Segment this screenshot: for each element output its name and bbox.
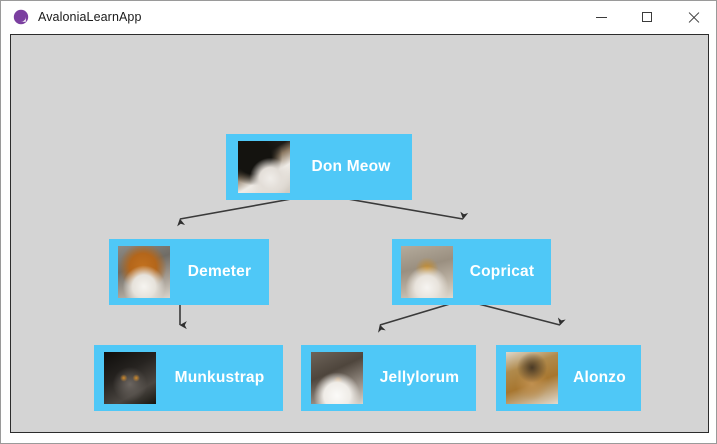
cat-photo-don-meow <box>238 141 290 193</box>
cat-photo-alonzo <box>506 352 558 404</box>
title-bar: AvaloniaLearnApp <box>1 1 716 33</box>
tree-node-label: Alonzo <box>558 369 641 387</box>
tree-node-label: Demeter <box>170 263 269 281</box>
cat-photo-munkustrap <box>104 352 156 404</box>
tree-node-demeter[interactable]: Demeter <box>109 239 269 305</box>
close-icon <box>688 12 699 23</box>
maximize-button[interactable] <box>624 1 670 33</box>
minimize-icon <box>596 17 607 18</box>
tree-node-don-meow[interactable]: Don Meow <box>226 134 412 200</box>
cat-photo-demeter <box>118 246 170 298</box>
tree-node-label: Munkustrap <box>156 369 283 387</box>
title-bar-left: AvaloniaLearnApp <box>1 9 142 25</box>
tree-diagram-canvas: Don Meow Demeter Copricat Munkustrap Jel… <box>11 35 708 432</box>
maximize-icon <box>642 12 652 22</box>
window-title: AvaloniaLearnApp <box>38 10 142 24</box>
tree-node-copricat[interactable]: Copricat <box>392 239 551 305</box>
app-window: AvaloniaLearnApp <box>0 0 717 444</box>
tree-node-munkustrap[interactable]: Munkustrap <box>94 345 283 411</box>
tree-node-alonzo[interactable]: Alonzo <box>496 345 641 411</box>
avalonia-logo-icon <box>13 9 29 25</box>
tree-node-label: Jellylorum <box>363 369 476 387</box>
close-button[interactable] <box>670 1 716 33</box>
minimize-button[interactable] <box>578 1 624 33</box>
tree-node-label: Don Meow <box>290 158 412 176</box>
window-controls <box>578 1 716 33</box>
tree-node-label: Copricat <box>453 263 551 281</box>
cat-photo-copricat <box>401 246 453 298</box>
client-area: Don Meow Demeter Copricat Munkustrap Jel… <box>10 34 709 433</box>
tree-node-jellylorum[interactable]: Jellylorum <box>301 345 476 411</box>
cat-photo-jellylorum <box>311 352 363 404</box>
